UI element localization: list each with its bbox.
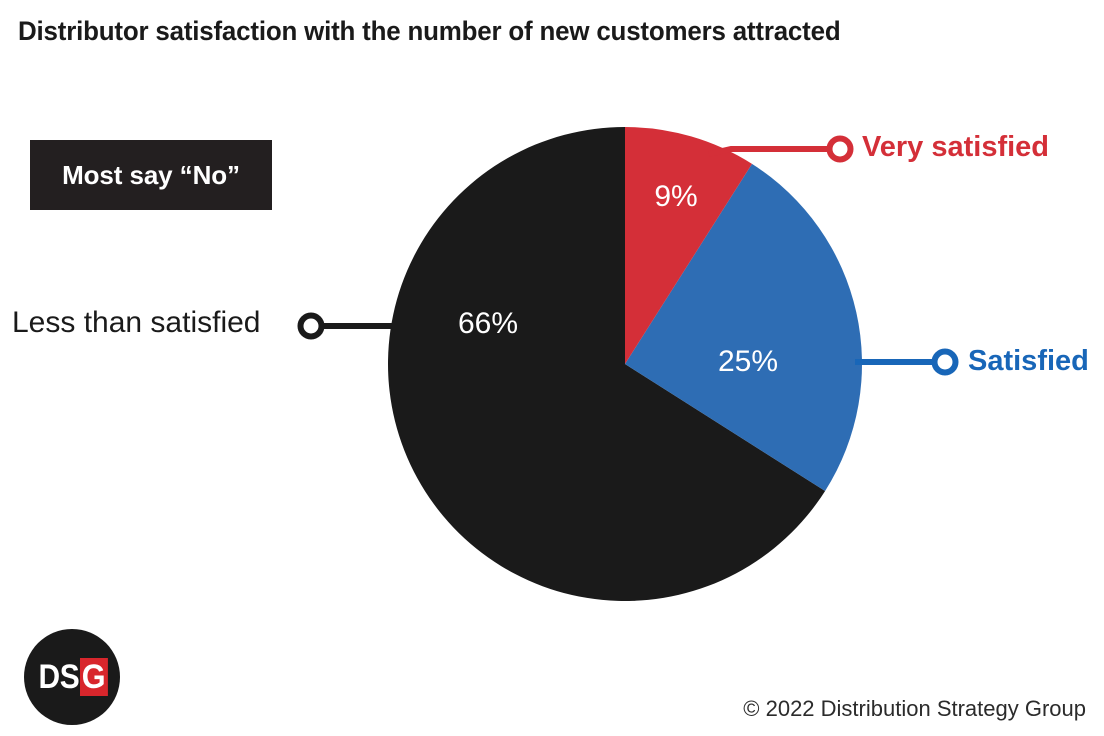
pie-value-label-very-satisfied: 9% xyxy=(654,180,697,213)
pie-value-label-satisfied: 25% xyxy=(718,345,778,378)
legend-label-satisfied[interactable]: Satisfied xyxy=(968,347,1089,376)
pie-chart: 9% 25% 66% xyxy=(0,0,1104,736)
pie-slices xyxy=(388,127,862,601)
leader-marker-less-than-satisfied xyxy=(301,316,322,337)
dsg-wordmark: DSG xyxy=(33,658,110,696)
dsg-logo-letters-ds: DS xyxy=(39,658,80,696)
dsg-logo-letter-g: G xyxy=(80,658,108,696)
pie-value-label-less-than-satisfied: 66% xyxy=(458,307,518,340)
legend-label-less-than-satisfied[interactable]: Less than satisfied xyxy=(12,308,260,338)
copyright-text: © 2022 Distribution Strategy Group xyxy=(743,696,1086,722)
leader-marker-satisfied xyxy=(935,352,956,373)
leader-less-than-satisfied xyxy=(301,316,395,337)
leader-marker-very-satisfied xyxy=(830,139,851,160)
legend-label-very-satisfied[interactable]: Very satisfied xyxy=(862,133,1049,162)
leader-satisfied xyxy=(855,352,956,373)
dsg-logo: DSG xyxy=(24,629,120,725)
chart-canvas: Distributor satisfaction with the number… xyxy=(0,0,1104,736)
